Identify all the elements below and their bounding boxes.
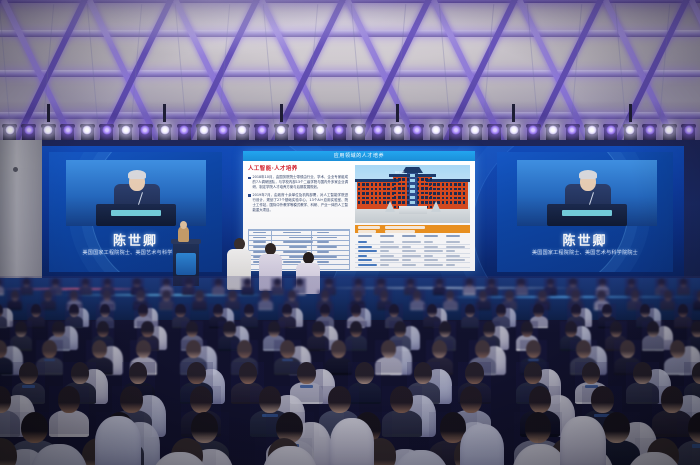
building-window — [407, 196, 409, 199]
audience-member-head — [162, 290, 170, 301]
building-window — [433, 188, 435, 191]
building-window — [417, 201, 419, 204]
audience-member-head — [407, 278, 414, 287]
building-window — [383, 188, 385, 191]
building-window — [421, 187, 423, 190]
audience-member-head — [69, 304, 79, 317]
building-window — [402, 187, 404, 190]
building-window — [383, 192, 385, 195]
building-window — [430, 183, 432, 186]
audience-member-head — [691, 321, 700, 337]
audience-member-head — [661, 386, 683, 413]
audience-member-shoulders — [461, 316, 479, 329]
light-lamp — [257, 125, 267, 135]
building-window — [366, 188, 368, 191]
audience-member-head — [31, 304, 41, 317]
audience-member-head — [261, 290, 269, 301]
audience-chair — [460, 424, 504, 465]
audience-member-head — [321, 290, 329, 301]
building-window — [375, 188, 377, 191]
building-window — [402, 192, 404, 195]
slide-bullet: 2018年10月，由国务院院士带领由行业、学术、企业专家组成的7人调研团队，与学… — [248, 175, 348, 190]
speaker-name-right: 陈世卿 — [497, 230, 673, 249]
secondary-table-cell — [317, 256, 337, 258]
tower-window — [410, 179, 415, 182]
light-hanging-stalk — [47, 104, 50, 122]
speaker-subtitle-right: 美国国家工程院院士、美国艺术与科学院院士 — [497, 249, 673, 256]
audience-member-head — [427, 304, 437, 317]
audience-member-head — [394, 321, 406, 337]
audience-member-head — [228, 290, 236, 301]
building-window — [362, 188, 364, 191]
building-window — [398, 183, 400, 186]
building-window — [442, 201, 444, 204]
conference-hall-photo: 陈世卿 美国国家工程院院士、美国艺术与科学院院士 陈世卿 美国国家工程院院士、美… — [0, 0, 700, 465]
building-window — [379, 183, 381, 186]
audience-member-head — [42, 340, 57, 358]
building-window — [458, 188, 460, 191]
audience-member-head — [479, 290, 487, 301]
audience-member-head — [569, 278, 576, 287]
light-lamp — [393, 125, 403, 135]
building-window — [458, 192, 460, 195]
building-window — [421, 178, 423, 181]
building-window — [366, 201, 368, 204]
building-window — [442, 183, 444, 186]
audience-member-head — [664, 290, 672, 301]
building-window — [425, 201, 427, 204]
audience-member-head — [529, 386, 551, 413]
building-window — [417, 178, 419, 181]
audience-member-head — [488, 278, 495, 287]
table-header-label-d — [385, 230, 415, 233]
building-window — [379, 192, 381, 195]
light-lamp — [548, 125, 558, 135]
building-window — [463, 197, 465, 200]
audience-member-head — [533, 304, 543, 317]
building-window — [371, 188, 373, 191]
secondary-table-cell — [253, 237, 266, 239]
audience-member-head — [413, 290, 421, 301]
audience-member-head — [355, 278, 362, 287]
audience-member-head — [141, 321, 153, 337]
building-window — [387, 188, 389, 191]
audience-member-head — [414, 362, 432, 384]
speaker-hair — [579, 170, 597, 179]
light-lamp — [63, 125, 73, 135]
audience-member-head — [136, 290, 144, 301]
light-lamp — [645, 125, 655, 135]
audience-member-head — [351, 304, 361, 317]
speaker-screen-right: 陈世卿 美国国家工程院院士、美国艺术与科学院院士 — [497, 152, 673, 272]
building-window — [398, 201, 400, 204]
audience-member-head — [239, 362, 257, 384]
audience-member — [677, 278, 690, 294]
audience-member-head — [70, 290, 78, 301]
audience-member-head — [496, 304, 506, 317]
light-lamp — [102, 125, 112, 135]
slide-bullet-text: 2019年7月，由政府十余单位及机构部署，对人工智能学院进行设计，规划了27个基… — [253, 193, 349, 213]
tower-window — [410, 185, 415, 188]
building-window — [463, 192, 465, 195]
audience-member — [693, 290, 700, 309]
building-window — [454, 201, 456, 204]
audience-member-head — [331, 340, 346, 358]
table-row — [355, 245, 470, 249]
building-window — [366, 183, 368, 186]
audience-member-shoulders — [443, 300, 458, 311]
building-window — [446, 197, 448, 200]
audience-member-head — [517, 278, 524, 287]
building-window — [446, 192, 448, 195]
audience-member-head — [597, 290, 605, 301]
audience-member-shoulders — [258, 300, 273, 311]
audience-member-head — [571, 304, 581, 317]
building-window — [421, 192, 423, 195]
light-lamp — [5, 125, 15, 135]
audience-member-head — [466, 278, 473, 287]
building-window — [371, 183, 373, 186]
building-window — [437, 192, 439, 195]
audience-member-head — [633, 362, 651, 384]
tower-window — [410, 201, 415, 204]
audience-chair — [330, 418, 374, 465]
slide-bullet: 2019年7月，由政府十余单位及机构部署，对人工智能学院进行设计，规划了27个基… — [248, 193, 348, 213]
table-column-header — [380, 235, 394, 237]
speaker-hair — [128, 170, 146, 179]
audience-member-head — [274, 278, 281, 287]
building-window — [371, 192, 373, 195]
secondary-table-cell — [289, 237, 313, 239]
building-window — [417, 192, 419, 195]
building-window — [402, 178, 404, 181]
audience-member-head — [58, 386, 80, 413]
audience-member-shoulders — [642, 335, 664, 351]
building-roof-center — [402, 167, 423, 173]
photo-caption: 校区主楼 — [395, 170, 405, 174]
audience-member-head — [138, 304, 148, 317]
audience-member-head — [328, 386, 350, 413]
slide-text-column: 人工智能·人才培养 2018年10月，由国务院院士带领由行业、学术、企业专家组成… — [248, 164, 348, 216]
audience-member-head — [195, 290, 203, 301]
audience-member — [0, 340, 13, 373]
building-window — [366, 192, 368, 195]
building-window — [437, 188, 439, 191]
light-lamp — [160, 125, 170, 135]
secondary-table-cell — [317, 246, 337, 248]
audience-member-head — [354, 290, 362, 301]
building-window — [421, 201, 423, 204]
building-window — [442, 188, 444, 191]
audience-member-head — [185, 278, 192, 287]
building-window — [425, 183, 427, 186]
building-window — [454, 197, 456, 200]
audience-member-head — [658, 278, 665, 287]
building-window — [442, 192, 444, 195]
building-window — [394, 178, 396, 181]
audience-member-head — [460, 386, 482, 413]
audience-member-head — [44, 290, 52, 301]
audience-member — [642, 321, 664, 349]
table-header-label-c — [358, 230, 376, 233]
audience-member — [10, 321, 32, 349]
audience-member-head — [186, 321, 198, 337]
audience-member-head — [640, 304, 650, 317]
audience-member-head — [0, 386, 11, 413]
audience-member-head — [52, 321, 64, 337]
audience-member-head — [680, 278, 687, 287]
audience-member-head — [355, 362, 373, 384]
building-window — [430, 196, 432, 199]
audience-member-head — [23, 278, 30, 287]
building-window — [387, 192, 389, 195]
audience-chair — [95, 416, 141, 465]
audience-member-head — [244, 304, 254, 317]
building-window — [417, 183, 419, 186]
light-lamp — [296, 125, 306, 135]
building-window — [358, 183, 360, 186]
audience-member-head — [103, 290, 111, 301]
light-lamp — [24, 125, 34, 135]
audience-member-head — [186, 340, 201, 358]
audience-member-head — [213, 304, 223, 317]
light-lamp — [199, 125, 209, 135]
building-window — [437, 183, 439, 186]
plaza-steps — [399, 206, 427, 214]
building-window — [358, 197, 360, 200]
audience-member-head — [390, 386, 412, 413]
audience-member-head — [215, 278, 222, 287]
building-window — [425, 192, 427, 195]
audience-member-head — [591, 386, 613, 413]
light-hanging-stalk — [280, 104, 283, 122]
audience-member-head — [320, 304, 330, 317]
audience-member-shoulders — [241, 286, 254, 295]
building-window — [430, 206, 432, 209]
audience-member-head — [296, 278, 303, 287]
building-window — [454, 183, 456, 186]
building-window — [430, 192, 432, 195]
building-window — [358, 201, 360, 204]
building-window — [362, 183, 364, 186]
building-window — [394, 192, 396, 195]
light-lamp — [218, 125, 228, 135]
building-window — [454, 192, 456, 195]
building-roof-right — [412, 174, 436, 177]
audience-member-head — [465, 304, 475, 317]
building-window — [358, 192, 360, 195]
bullet-marker-icon — [248, 177, 251, 180]
building-window — [454, 188, 456, 191]
slide-heading: 人工智能·人才培养 — [248, 164, 348, 172]
light-lamp — [606, 125, 616, 135]
building-window — [379, 201, 381, 204]
audience-member-head — [377, 278, 384, 287]
audience-member-shoulders — [0, 357, 13, 375]
audience-member-head — [280, 340, 295, 358]
secondary-table-cell — [253, 232, 266, 234]
building-window — [446, 188, 448, 191]
building-window — [394, 187, 396, 190]
audience-member — [258, 290, 273, 309]
bullet-marker-icon — [248, 194, 251, 197]
building-window — [463, 188, 465, 191]
audience-member-head — [133, 278, 140, 287]
audience-lanyard — [300, 385, 313, 388]
building-window — [433, 183, 435, 186]
audience-lanyard — [692, 444, 700, 448]
secondary-table-cell — [283, 232, 301, 234]
building-window — [375, 197, 377, 200]
audience-member-head — [571, 290, 579, 301]
audience-member-head — [432, 340, 447, 358]
audience-member — [461, 304, 479, 327]
building-window — [433, 192, 435, 195]
audience-member-head — [0, 340, 7, 358]
light-lamp — [684, 125, 694, 135]
building-window — [407, 201, 409, 204]
audience-member-head — [268, 321, 280, 337]
audience-member-head — [389, 304, 399, 317]
audience-member-head — [446, 290, 454, 301]
audience-member-head — [483, 321, 495, 337]
secondary-table-cell — [317, 237, 337, 239]
building-window — [407, 192, 409, 195]
building-window — [394, 196, 396, 199]
audience-member-head — [282, 304, 292, 317]
table-row — [355, 254, 470, 258]
building-window — [430, 201, 432, 204]
audience-member — [192, 290, 207, 309]
audience-member — [443, 290, 458, 309]
audience-member-head — [439, 321, 451, 337]
building-window — [446, 201, 448, 204]
building-window — [430, 187, 432, 190]
light-lamp — [121, 125, 131, 135]
audience-member-head — [120, 386, 142, 413]
audience-member — [0, 278, 4, 294]
audience-member-head — [381, 340, 396, 358]
secondary-table-cell — [289, 246, 307, 248]
secondary-table-cell — [283, 241, 313, 243]
slide-data-table — [355, 234, 470, 268]
audience-seating — [0, 276, 700, 465]
building-window — [433, 197, 435, 200]
audience-member-head — [380, 290, 388, 301]
audience-member-shoulders — [0, 316, 7, 329]
audience-member-head — [647, 321, 659, 337]
building-window — [379, 188, 381, 191]
building-window — [383, 197, 385, 200]
audience-member-head — [602, 304, 612, 317]
audience-member-head — [599, 278, 606, 287]
table-header-label-b — [385, 226, 425, 229]
secondary-table-cell — [317, 241, 329, 243]
audience-member-head — [288, 290, 296, 301]
building-window — [362, 201, 364, 204]
podium-front-panel — [176, 253, 196, 275]
audience-member-head — [526, 340, 541, 358]
audience-member-head — [603, 412, 630, 443]
audience-member-head — [678, 304, 688, 317]
building-window — [425, 178, 427, 181]
building-window — [450, 192, 452, 195]
light-lamp — [412, 125, 422, 135]
audience-member-head — [104, 278, 111, 287]
building-window — [417, 196, 419, 199]
audience-member-shoulders — [463, 286, 476, 295]
audience-member-shoulders — [660, 300, 675, 311]
building-window — [442, 197, 444, 200]
audience-member-head — [670, 340, 685, 358]
building-window — [375, 183, 377, 186]
audience-member — [240, 304, 258, 327]
building-window — [417, 187, 419, 190]
building-window — [383, 183, 385, 186]
building-window — [458, 201, 460, 204]
audience-member — [463, 278, 476, 294]
audience-member-head — [175, 304, 185, 317]
audience-member-head — [538, 290, 546, 301]
audience-member-head — [259, 386, 281, 413]
audience-member-head — [187, 362, 205, 384]
audience-member-shoulders — [212, 286, 225, 295]
audience-member-head — [582, 362, 600, 384]
audience-member-head — [505, 290, 513, 301]
building-window — [366, 197, 368, 200]
building-window — [398, 187, 400, 190]
table-column-header — [358, 235, 372, 237]
audience-member-head — [576, 340, 591, 358]
audience-member-head — [475, 340, 490, 358]
audience-member-head — [0, 304, 3, 317]
building-window — [425, 196, 427, 199]
building-window — [387, 197, 389, 200]
table-column-header — [424, 235, 438, 237]
table-row — [355, 249, 470, 253]
building-roof-wing-left — [355, 179, 399, 182]
table-row — [355, 240, 470, 244]
slide-title-bar: 应用领域的人才培养 — [243, 151, 475, 161]
audience-member-head — [100, 304, 110, 317]
light-hanging-stalk — [512, 104, 515, 122]
building-window — [407, 187, 409, 190]
audience-member-head — [15, 321, 27, 337]
slide-table-header — [355, 225, 470, 233]
building-roof-wing-right — [426, 179, 470, 182]
building-window — [398, 178, 400, 181]
light-hanging-stalk — [163, 104, 166, 122]
audience-member-head — [82, 278, 89, 287]
building-window — [421, 196, 423, 199]
building-window — [407, 183, 409, 186]
table-column-header — [402, 235, 416, 237]
building-window — [398, 196, 400, 199]
audience-member-head — [223, 321, 235, 337]
building-window — [362, 197, 364, 200]
audience-member-head — [19, 362, 37, 384]
audience-member-shoulders — [693, 300, 700, 311]
podium-banner-on-screen — [562, 210, 612, 216]
building-window — [458, 197, 460, 200]
tower-window — [410, 174, 415, 177]
audience-member-head — [71, 362, 89, 384]
audience-chair — [560, 416, 606, 465]
audience-member-head — [97, 321, 109, 337]
podium-speaker-head — [180, 221, 187, 229]
audience-member-head — [11, 290, 19, 301]
audience-member-head — [237, 340, 252, 358]
